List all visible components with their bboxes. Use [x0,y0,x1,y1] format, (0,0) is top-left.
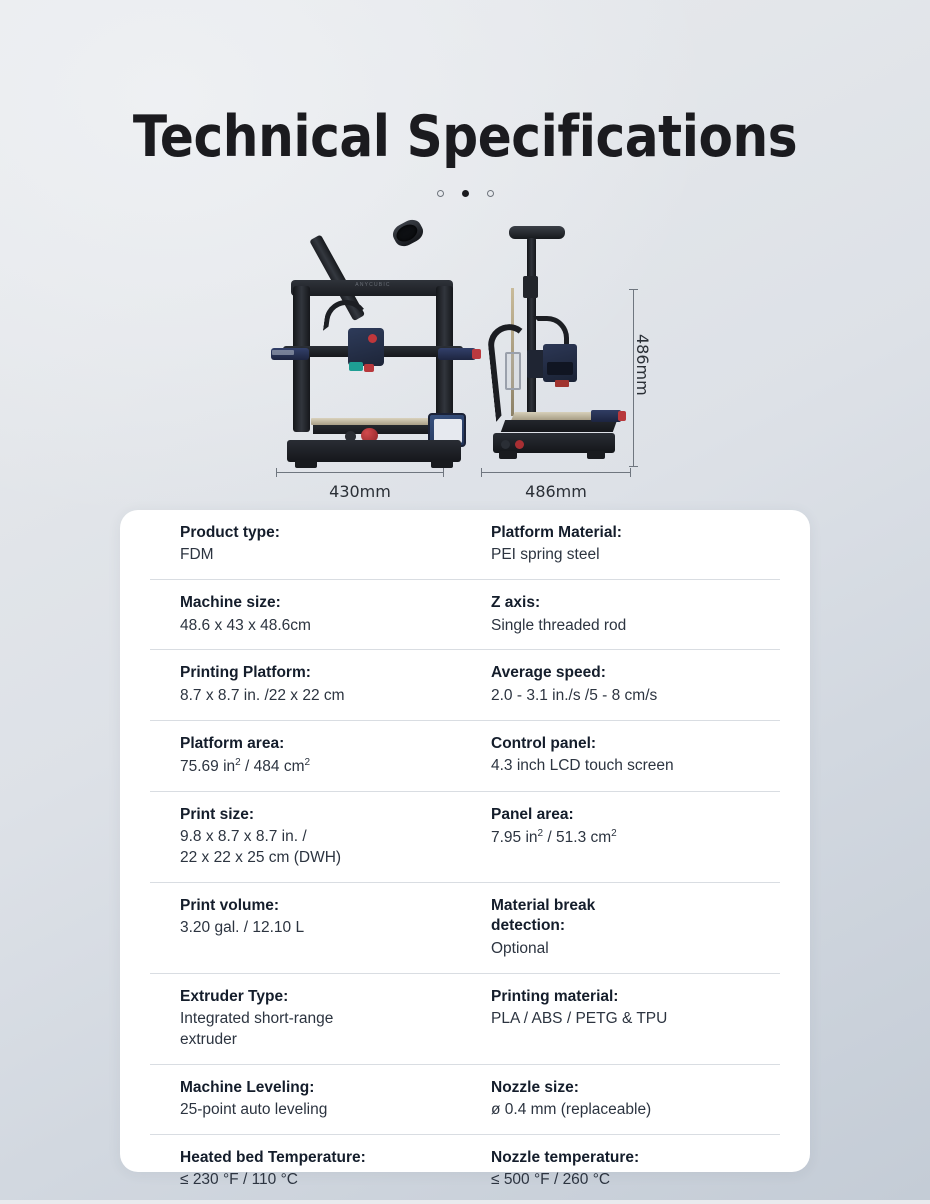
spec-label: Print size: [180,805,451,825]
spec-value: 2.0 - 3.1 in./s /5 - 8 cm/s [491,686,766,707]
dimension-label-height: 486mm [633,334,652,396]
spec-row: Print volume:3.20 gal. / 12.10 LMaterial… [150,882,780,973]
spec-label: Average speed: [491,663,766,683]
specifications-card: Product type:FDMPlatform Material:PEI sp… [120,510,810,1172]
header: Technical Specifications [0,108,930,197]
page-background: Technical Specifications ANYCUBIC [0,0,930,1200]
printer-foot-side-right [587,451,605,459]
spec-value: PEI spring steel [491,545,766,566]
spec-value: FDM [180,545,451,566]
spool-holder-icon [390,216,427,250]
dimension-bar-front-width [276,472,444,473]
spool-holder-bar [509,226,565,239]
spec-value: PLA / ABS / PETG & TPU [491,1009,766,1030]
spec-label: Machine Leveling: [180,1078,451,1098]
spec-cell-right: Z axis:Single threaded rod [465,580,780,649]
spec-label: Nozzle size: [491,1078,766,1098]
brand-label: ANYCUBIC [355,282,390,288]
printer-foot-side-left [499,451,517,459]
spec-value: 7.95 in2 / 51.3 cm2 [491,827,766,849]
spec-cell-right: Printing material:PLA / ABS / PETG & TPU [465,974,780,1064]
spec-value: 4.3 inch LCD touch screen [491,756,766,777]
spec-row: Print size: 9.8 x 8.7 x 8.7 in. /22 x 22… [150,791,780,882]
spec-cell-right: Control panel:4.3 inch LCD touch screen [465,721,780,791]
spec-cell-left: Extruder Type:Integrated short-rangeextr… [150,974,465,1064]
spec-cell-right: Panel area:7.95 in2 / 51.3 cm2 [465,792,780,882]
spec-label: Control panel: [491,734,766,754]
spec-row: Extruder Type:Integrated short-rangeextr… [150,973,780,1064]
spec-cell-left: Heated bed Temperature:≤ 230 °F / 110 °C [150,1135,465,1204]
x-rod-right [438,348,476,360]
spec-label: Nozzle temperature: [491,1148,766,1168]
spec-cell-left: Machine size:48.6 x 43 x 48.6cm [150,580,465,649]
carousel-dots[interactable] [0,190,930,197]
spec-cell-left: Print size: 9.8 x 8.7 x 8.7 in. /22 x 22… [150,792,465,882]
dimension-label-front-width: 430mm [276,482,444,501]
spec-row: Machine Leveling:25-point auto levelingN… [150,1064,780,1134]
spec-label: Machine size: [180,593,451,613]
page-title: Technical Specifications [56,108,874,168]
spec-cell-left: Machine Leveling:25-point auto leveling [150,1065,465,1134]
spec-cell-right: Average speed:2.0 - 3.1 in./s /5 - 8 cm/… [465,650,780,719]
printer-base [287,440,461,462]
spec-label: Platform Material: [491,523,766,543]
print-head-side [543,344,577,382]
spec-value: 25-point auto leveling [180,1100,451,1121]
spec-label: Z axis: [491,593,766,613]
y-rod-side [591,410,621,422]
spec-value: Optional [491,939,766,960]
printer-front-view: ANYCUBIC [283,228,463,468]
spec-row: Platform area:75.69 in2 / 484 cm2Control… [150,720,780,791]
print-head-fan [349,362,363,371]
x-rod-left [271,348,309,360]
dimension-label-side-width: 486mm [481,482,631,501]
spec-value: 75.69 in2 / 484 cm2 [180,756,451,778]
spec-label: Printing Platform: [180,663,451,683]
print-head-nozzle [364,364,374,372]
spec-cell-left: Printing Platform:8.7 x 8.7 in. /22 x 22… [150,650,465,719]
spec-value: 3.20 gal. / 12.10 L [180,918,451,939]
print-head [348,328,384,366]
spec-label: Platform area: [180,734,451,754]
spec-value: Integrated short-rangeextruder [180,1009,451,1051]
spec-cell-right: Material break detection:Optional [465,883,780,973]
spec-value: 9.8 x 8.7 x 8.7 in. /22 x 22 x 25 cm (DW… [180,827,451,869]
spec-label: Panel area: [491,805,766,825]
dimension-bar-side-width [481,472,631,473]
spec-cell-right: Platform Material:PEI spring steel [465,510,780,579]
spec-cell-right: Nozzle size:ø 0.4 mm (replaceable) [465,1065,780,1134]
printer-side-view [487,228,619,468]
spec-cell-left: Platform area:75.69 in2 / 484 cm2 [150,721,465,791]
printer-base-side [493,433,615,453]
spec-row: Printing Platform:8.7 x 8.7 in. /22 x 22… [150,649,780,719]
nozzle [555,380,569,387]
carousel-dot-3[interactable] [487,190,494,197]
spec-label: Printing material: [491,987,766,1007]
printer-illustration-group: ANYCUBIC [0,228,930,500]
z-carriage [505,352,521,390]
spec-value: ø 0.4 mm (replaceable) [491,1100,766,1121]
spec-value: ≤ 230 °F / 110 °C [180,1170,451,1191]
spec-row: Product type:FDMPlatform Material:PEI sp… [150,510,780,579]
spec-row: Heated bed Temperature:≤ 230 °F / 110 °C… [150,1134,780,1204]
spec-cell-left: Product type:FDM [150,510,465,579]
carousel-dot-1[interactable] [437,190,444,197]
spec-label: Print volume: [180,896,451,916]
spec-value: Single threaded rod [491,616,766,637]
print-bed [311,418,433,425]
printer-foot-left [295,460,317,468]
spec-row: Machine size:48.6 x 43 x 48.6cmZ axis:Si… [150,579,780,649]
spec-label: Heated bed Temperature: [180,1148,451,1168]
spec-value: 8.7 x 8.7 in. /22 x 22 cm [180,686,451,707]
printer-foot-right [431,460,453,468]
spec-cell-right: Nozzle temperature:≤ 500 °F / 260 °C [465,1135,780,1204]
spec-value: 48.6 x 43 x 48.6cm [180,616,451,637]
z-mast-block [523,276,538,298]
specifications-table: Product type:FDMPlatform Material:PEI sp… [150,510,780,1204]
spec-label: Material break detection: [491,896,766,937]
spec-label: Extruder Type: [180,987,451,1007]
spec-label: Product type: [180,523,451,543]
spec-value: ≤ 500 °F / 260 °C [491,1170,766,1191]
carousel-dot-2[interactable] [462,190,469,197]
spec-cell-left: Print volume:3.20 gal. / 12.10 L [150,883,465,973]
